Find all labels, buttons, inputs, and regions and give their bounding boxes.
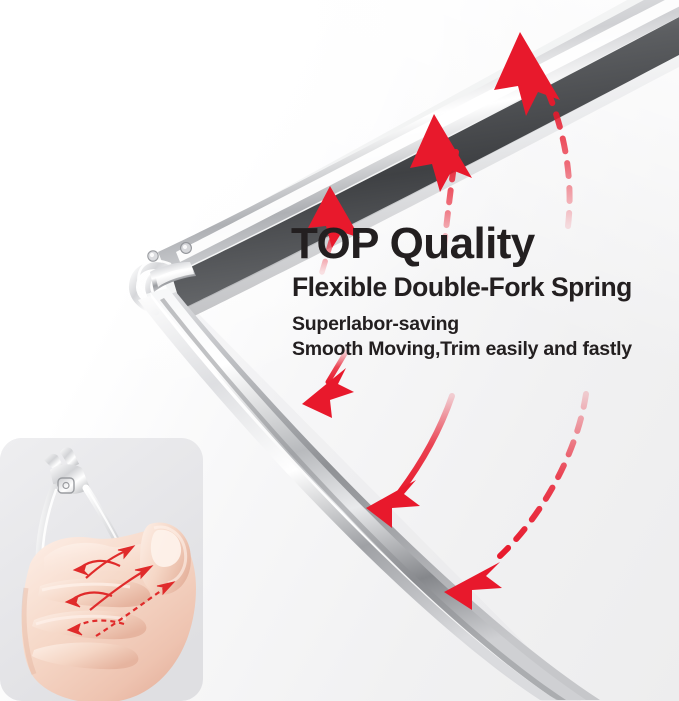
hand-holding-nipper-photo [0,438,203,701]
page-title: TOP Quality [291,222,671,267]
feature-benefit-line-1: Superlabor-saving [292,312,671,338]
feature-subheadline: Flexible Double-Fork Spring [292,273,671,303]
feature-benefit-line-2: Smooth Moving,Trim easily and fastly [292,337,671,363]
feature-copy-block: TOP Quality Flexible Double-Fork Spring … [291,222,671,363]
product-feature-image: TOP Quality Flexible Double-Fork Spring … [0,0,679,701]
arrow-spring-lower-right [444,394,586,610]
arrow-spring-lower-mid [366,396,452,528]
inset-illustration [0,438,203,701]
